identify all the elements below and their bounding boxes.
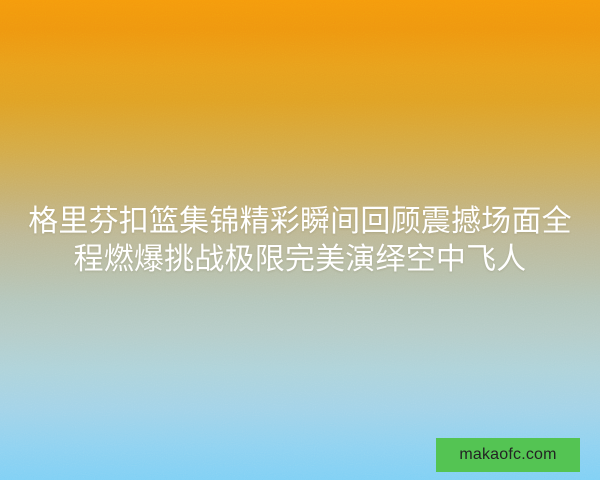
watermark-label: makaofc.com [459,447,556,463]
watermark-badge[interactable]: makaofc.com [436,438,580,472]
poster-title: 格里芬扣篮集锦精彩瞬间回顾震撼场面全 程燃爆挑战极限完美演绎空中飞人 [0,203,600,279]
poster-canvas: 格里芬扣篮集锦精彩瞬间回顾震撼场面全 程燃爆挑战极限完美演绎空中飞人 makao… [0,0,600,480]
